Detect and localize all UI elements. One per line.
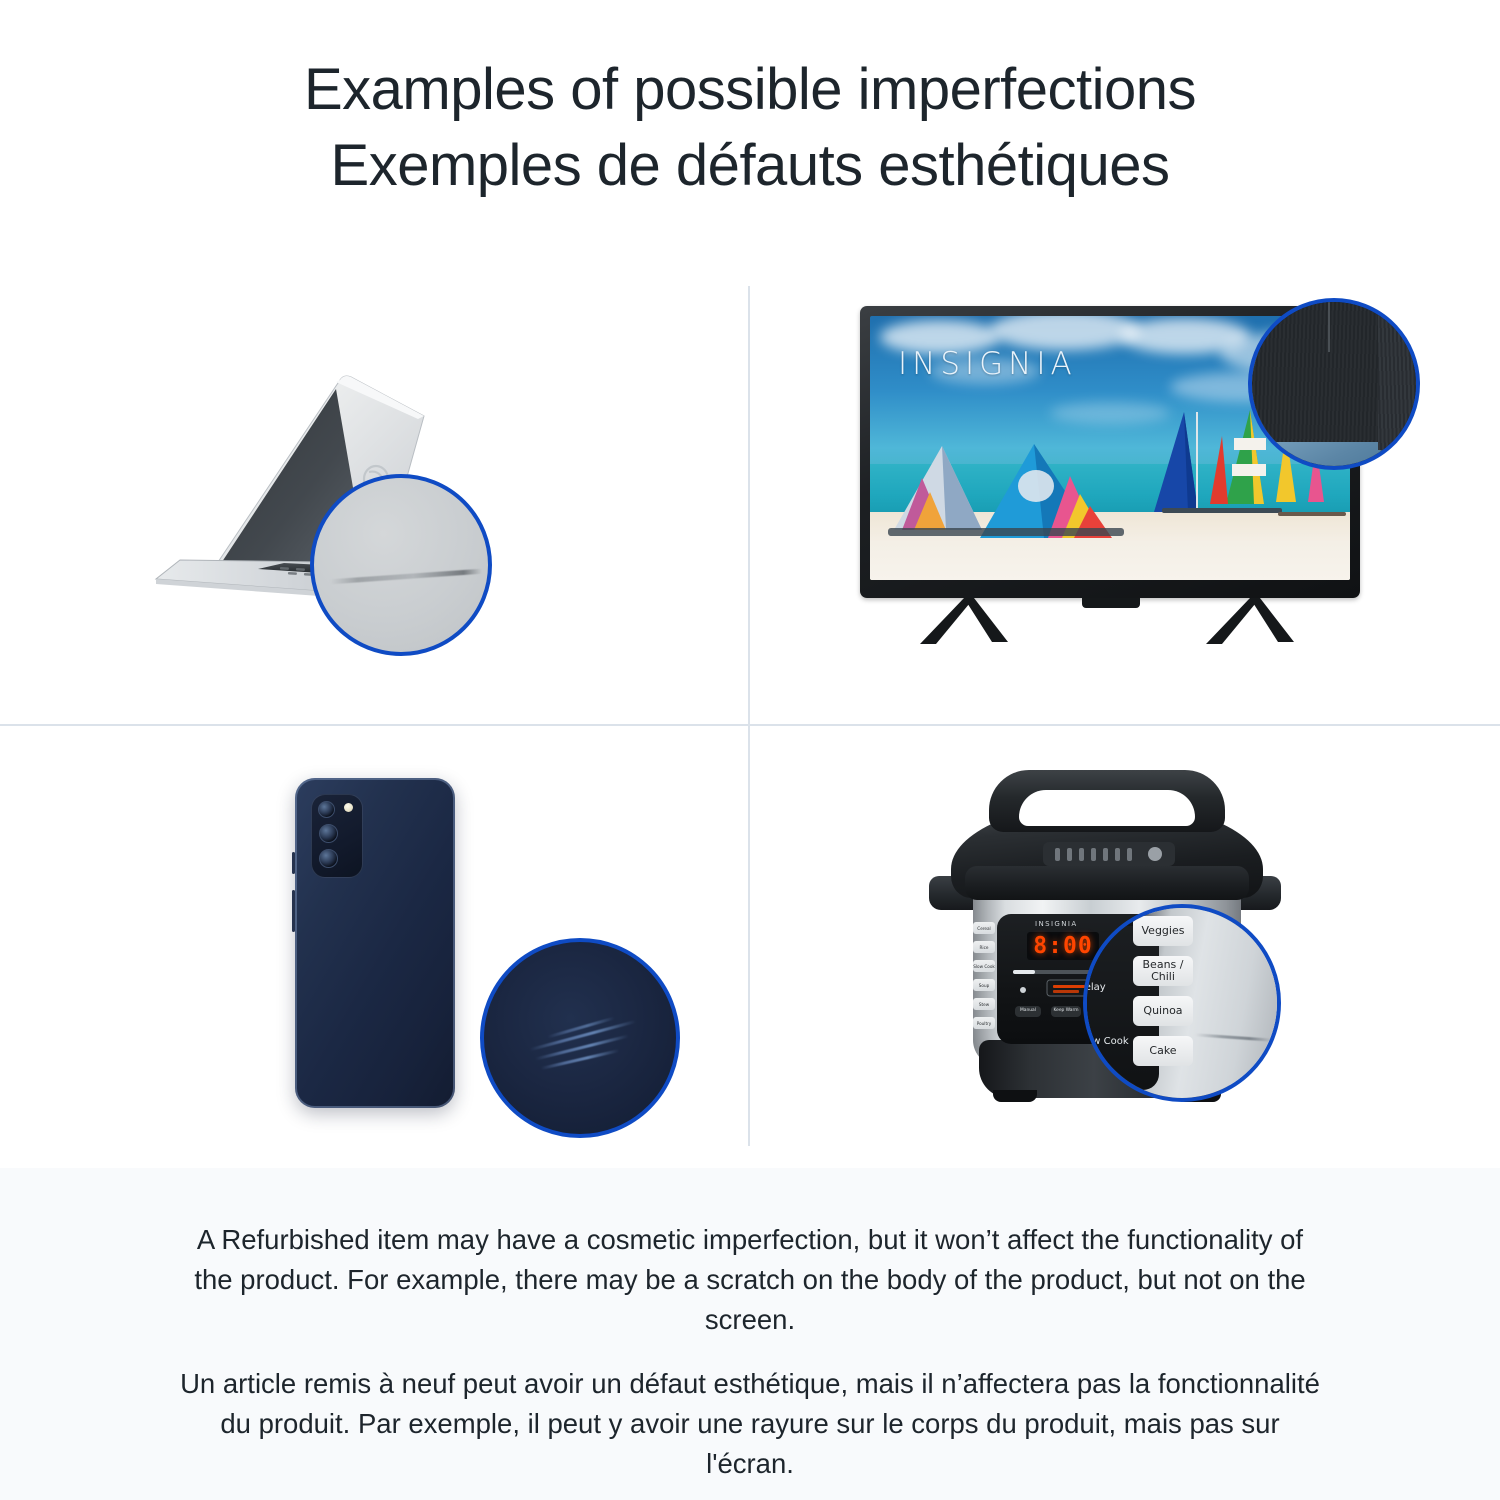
cooker-button-stew[interactable]: Stew: [973, 998, 995, 1010]
example-cell-laptop: [0, 264, 748, 724]
cooker-button-rice[interactable]: Rice: [973, 941, 995, 953]
phone-zoom-callout: [480, 938, 680, 1138]
phone-side-button-mute: [292, 852, 295, 874]
example-cell-phone: [0, 726, 748, 1168]
example-cell-tv: INSIGNIA: [750, 264, 1500, 724]
laptop-scratch-detail: [330, 569, 482, 585]
phone-illustration: [295, 778, 455, 1108]
footer-disclaimer: A Refurbished item may have a cosmetic i…: [0, 1168, 1500, 1500]
cooker-display-value: 8:00: [1033, 933, 1092, 959]
phone-camera-island: [311, 794, 363, 878]
cooker-zoom-button-beans-chili: Beans / Chili: [1133, 956, 1193, 986]
tv-stand-left: [912, 598, 1022, 648]
cooker-button-slow-cook[interactable]: Slow Cook: [973, 960, 995, 972]
cooker-zoom-callout: Delay Slow Cook Veggies Beans / Chili Qu…: [1083, 904, 1281, 1102]
phone-side-button-volume: [292, 890, 295, 932]
cooker-zoom-button-delay: Delay: [1083, 982, 1106, 993]
cooker-lid-vent: [1043, 836, 1183, 872]
footer-paragraph-french: Un article remis à neuf peut avoir un dé…: [180, 1364, 1320, 1484]
example-cell-cooker: INSIGNIA 8:00 Start Fish Steam Veggies B…: [750, 726, 1500, 1168]
examples-grid: INSIGNIA: [0, 264, 1500, 1168]
pressure-cooker-illustration: INSIGNIA 8:00 Start Fish Steam Veggies B…: [915, 754, 1295, 1144]
title-line-french: Exemples de défauts esthétiques: [0, 128, 1500, 204]
tv-image-beach-tents: [884, 442, 1164, 550]
cooker-zoom-button-slow-cook: Slow Cook: [1083, 1036, 1129, 1047]
tv-stand-right: [1198, 598, 1308, 648]
phone-camera-lens-1: [318, 801, 335, 818]
tv-illustration: INSIGNIA: [860, 306, 1360, 606]
cooker-zoom-button-veggies: Veggies: [1133, 916, 1193, 946]
cooker-button-soup[interactable]: Soup: [973, 979, 995, 991]
cooker-zoom-button-quinoa: Quinoa: [1133, 996, 1193, 1026]
tv-brand-wordmark: INSIGNIA: [898, 346, 1077, 382]
cooker-foot-left: [993, 1090, 1037, 1102]
cooker-zoom-button-cake: Cake: [1133, 1036, 1193, 1066]
phone-camera-lens-2: [319, 824, 338, 843]
cooker-handle-cutout: [1019, 790, 1195, 826]
phone-camera-lens-3: [319, 849, 338, 868]
cooker-button-cereal[interactable]: Cereal: [973, 922, 995, 934]
footer-paragraph-english: A Refurbished item may have a cosmetic i…: [180, 1220, 1320, 1340]
phone-camera-flash-icon: [344, 803, 353, 812]
cooker-button-keep-warm[interactable]: Keep Warm: [1051, 1006, 1081, 1017]
tv-zoom-callout: [1248, 298, 1420, 470]
infographic-page: Examples of possible imperfections Exemp…: [0, 0, 1500, 1500]
title-line-english: Examples of possible imperfections: [0, 52, 1500, 128]
page-title: Examples of possible imperfections Exemp…: [0, 52, 1500, 204]
tv-stand-neck: [1082, 598, 1140, 608]
cooker-button-manual[interactable]: Manual: [1015, 1006, 1041, 1017]
cooker-button-poultry[interactable]: Poultry: [973, 1017, 995, 1029]
cooker-brand-label: INSIGNIA: [1035, 920, 1078, 928]
laptop-zoom-callout: [310, 474, 492, 656]
tv-zoom-detail: [1248, 298, 1420, 470]
laptop-illustration: [0, 264, 748, 724]
